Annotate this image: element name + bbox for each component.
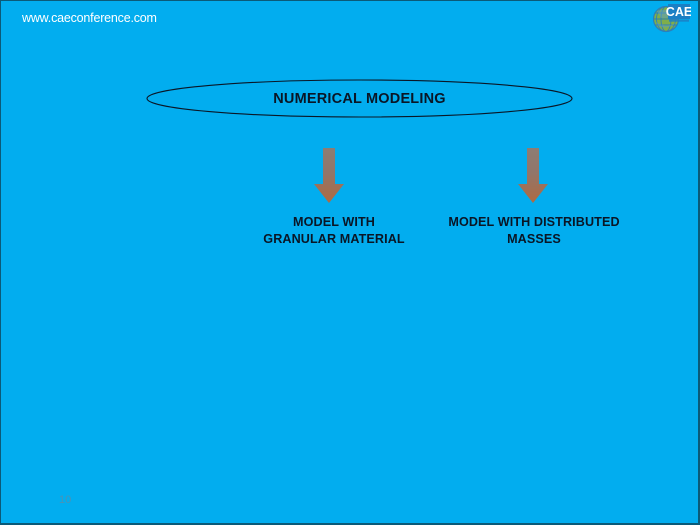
- label-line: MASSES: [438, 231, 630, 248]
- presentation-slide: www.caeconference.com CAE NUMERICAL MODE…: [0, 0, 700, 525]
- cae-globe-logo-icon: CAE: [647, 2, 691, 34]
- page-number: 10: [59, 494, 71, 506]
- label-line: MODEL WITH: [234, 214, 434, 231]
- svg-text:CAE: CAE: [666, 5, 691, 19]
- site-url-text: www.caeconference.com: [22, 11, 157, 25]
- label-line: GRANULAR MATERIAL: [234, 231, 434, 248]
- label-line: MODEL WITH DISTRIBUTED: [438, 214, 630, 231]
- numerical-modeling-label: NUMERICAL MODELING: [146, 79, 573, 118]
- arrow-down-icon: [312, 148, 346, 204]
- model-distributed-masses-label: MODEL WITH DISTRIBUTED MASSES: [438, 214, 630, 248]
- model-granular-material-label: MODEL WITH GRANULAR MATERIAL: [234, 214, 434, 248]
- arrow-down-icon: [516, 148, 550, 204]
